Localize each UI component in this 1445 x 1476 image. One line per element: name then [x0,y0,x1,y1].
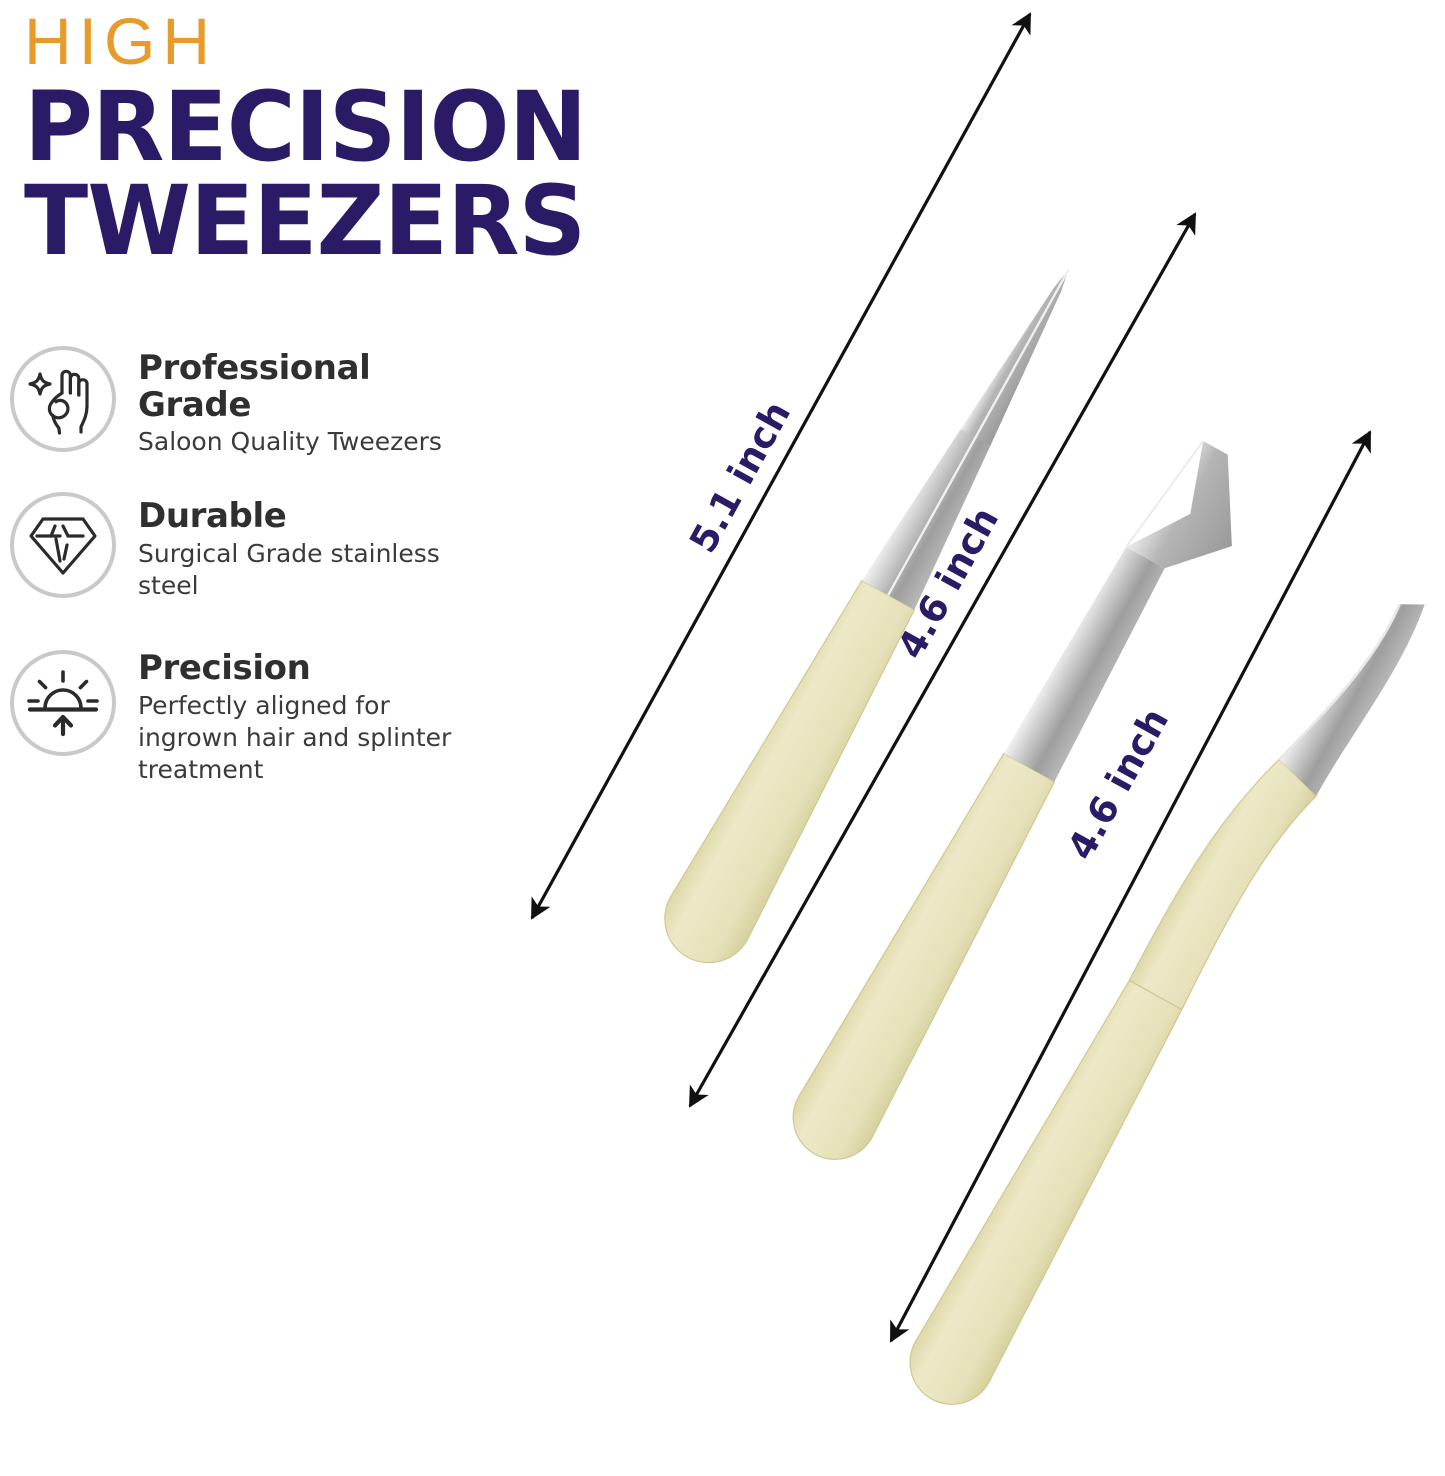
feature-description: Perfectly aligned for ingrown hair and s… [138,690,468,786]
tweezer-handle-curve [1128,747,1323,1016]
tweezer-angled-tip [1126,433,1269,591]
feature-description: Saloon Quality Tweezers [138,426,468,458]
feature-description: Surgical Grade stainless steel [138,538,468,602]
dimension-line-2 [891,432,1370,1341]
dimension-label-1: 4.6 inch [889,500,1007,666]
title-eyebrow: HIGH [24,8,664,74]
page-title: PRECISION TWEEZERS [24,80,651,268]
tweezer-handle [895,975,1192,1420]
feature-icon-circle [10,492,116,598]
title-block: HIGH PRECISION TWEEZERS [24,8,664,268]
page-title-line-1: PRECISION [24,80,651,174]
dimension-line-1 [690,214,1195,1106]
tweezer-handle [778,747,1066,1174]
tweezer-handle [649,574,927,979]
diamond-icon [27,511,99,579]
feature-text-block: Durable Surgical Grade stainless steel [138,492,468,602]
info-panel: HIGH PRECISION TWEEZERS [0,0,660,1476]
angled-tip-tweezer [778,424,1270,1188]
tweezer-seam [888,270,1068,595]
dimension-label-2: 4.6 inch [1059,701,1177,867]
tweezer-seam [1126,433,1203,554]
sunrise-arrow-icon [26,668,100,738]
tweezer-tip [961,261,1084,445]
ok-hand-sparkle-icon [26,362,100,436]
tweezer-shank [862,318,1060,609]
feature-title: Durable [138,498,468,535]
curved-tip-tweezer [895,562,1429,1424]
tweezer-curved-tip [1273,579,1429,799]
feature-item-precision: Precision Perfectly aligned for ingrown … [10,644,650,786]
feature-title: Precision [138,650,468,687]
feature-item-professional-grade: Professional Grade Saloon Quality Tweeze… [10,344,650,458]
feature-item-durable: Durable Surgical Grade stainless steel [10,492,650,602]
feature-text-block: Precision Perfectly aligned for ingrown … [138,644,468,786]
tweezer-seam [1279,590,1400,775]
tweezer-shank [1004,544,1171,782]
feature-text-block: Professional Grade Saloon Quality Tweeze… [138,344,468,458]
dimension-label-0: 5.1 inch [681,394,799,560]
feature-icon-circle [10,346,116,452]
feature-icon-circle [10,650,116,756]
straight-point-tweezer [649,248,1107,978]
page-title-line-2: TWEEZERS [24,174,651,268]
feature-list: Professional Grade Saloon Quality Tweeze… [10,344,650,808]
feature-title: Professional Grade [138,350,468,423]
